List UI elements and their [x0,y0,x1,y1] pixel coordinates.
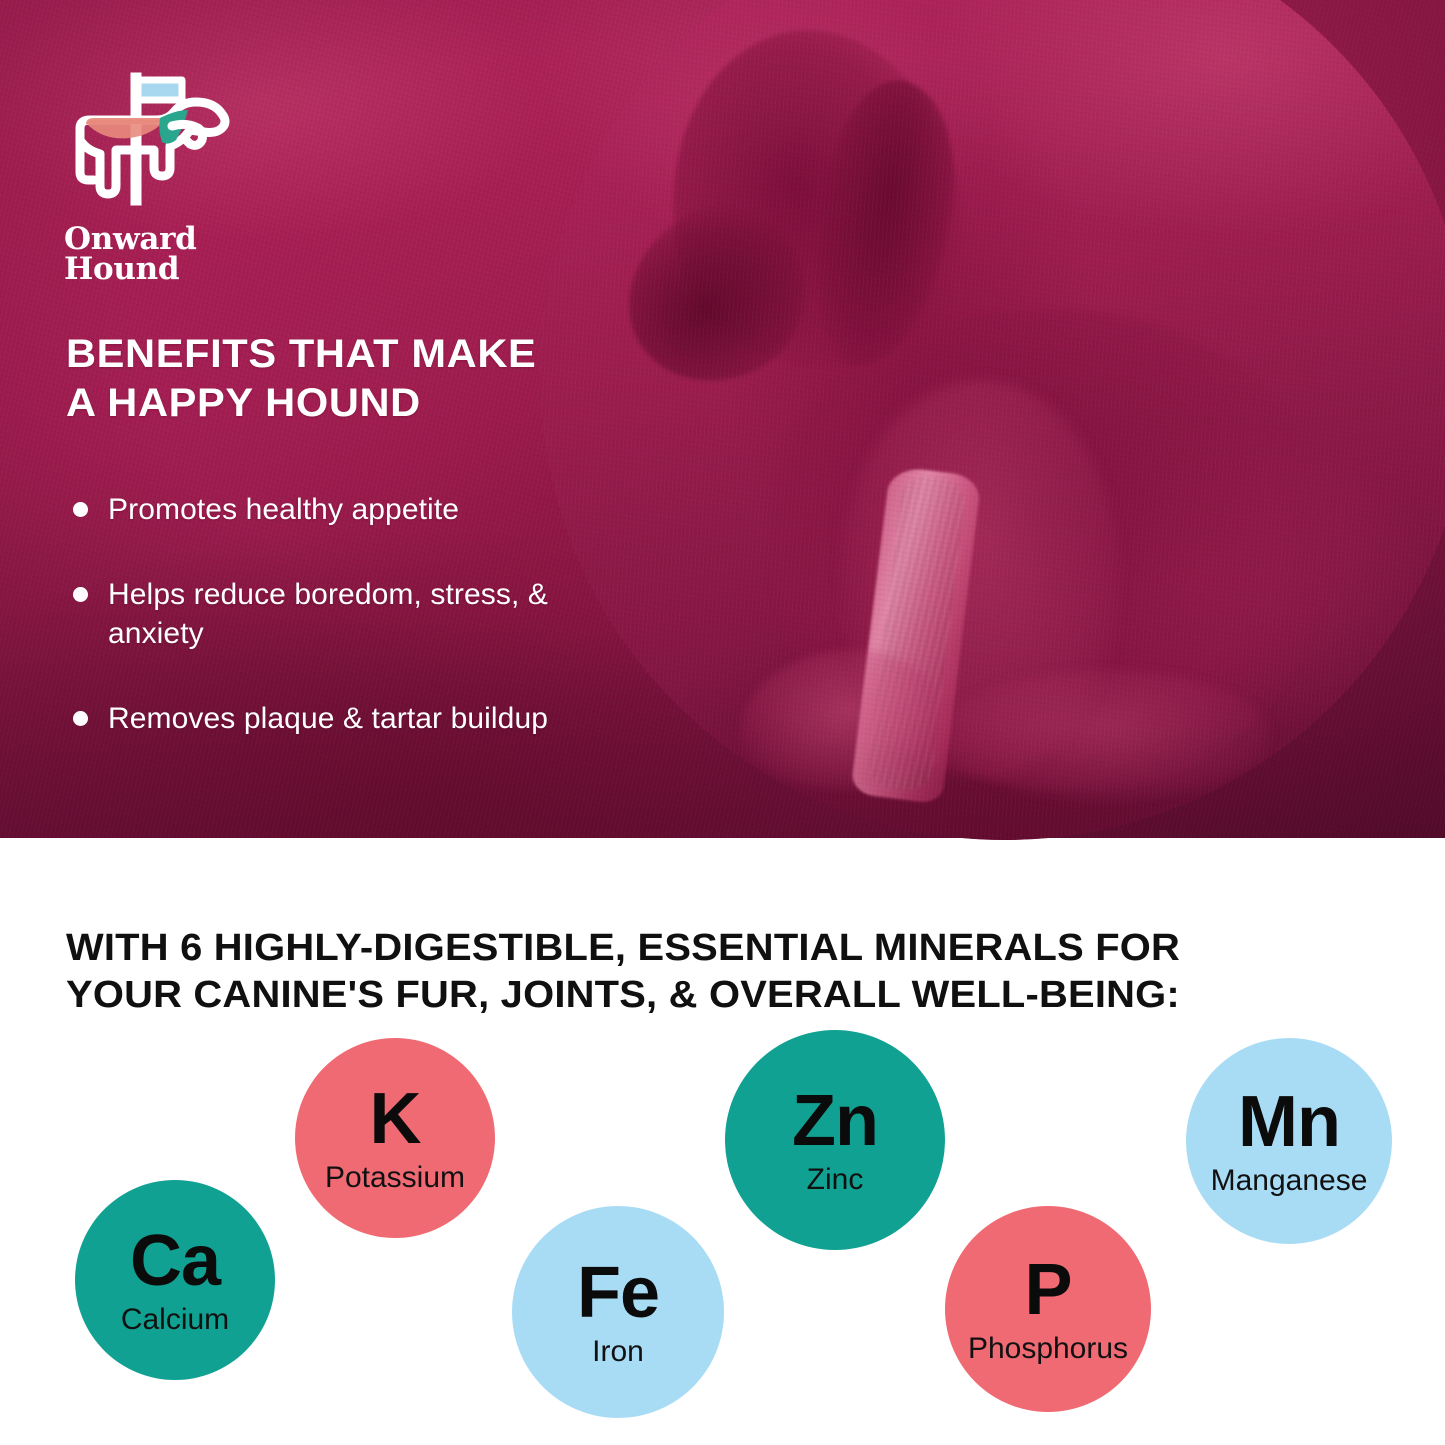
benefits-list: Promotes healthy appetite Helps reduce b… [66,490,586,738]
mineral-circle-manganese: Mn Manganese [1186,1038,1392,1244]
mineral-circle-zinc: Zn Zinc [725,1030,945,1250]
hero-title: BENEFITS THAT MAKE A HAPPY HOUND [66,330,607,428]
mineral-circle-phosphorus: P Phosphorus [945,1206,1151,1412]
mineral-name: Calcium [121,1303,229,1336]
brand-wordmark-line1: Onward [64,224,264,254]
mineral-symbol: Fe [577,1257,659,1329]
hero-copy: BENEFITS THAT MAKE A HAPPY HOUND Promote… [66,330,586,738]
brand-wordmark: Onward Hound [64,224,264,285]
mineral-symbol: P [1024,1254,1071,1326]
mineral-circle-potassium: K Potassium [295,1038,495,1238]
mineral-symbol: Mn [1238,1086,1340,1158]
mineral-name: Zinc [807,1163,864,1196]
bullet-dot-icon [73,711,88,726]
hero-circle-grain [540,0,1445,838]
benefit-text: Promotes healthy appetite [108,490,459,529]
mineral-circle-iron: Fe Iron [512,1206,724,1418]
minerals-heading-line1: WITH 6 HIGHLY-DIGESTIBLE, ESSENTIAL MINE… [66,927,1180,969]
mineral-symbol: Zn [792,1085,878,1157]
minerals-heading: WITH 6 HIGHLY-DIGESTIBLE, ESSENTIAL MINE… [66,925,1368,1019]
mineral-name: Iron [592,1335,644,1368]
benefit-item: Promotes healthy appetite [66,490,586,529]
benefit-item: Removes plaque & tartar buildup [66,699,586,738]
benefit-text: Removes plaque & tartar buildup [108,699,548,738]
hero-title-line2: A HAPPY HOUND [66,381,421,425]
mineral-symbol: K [370,1083,421,1155]
minerals-circles: Ca Calcium K Potassium Fe Iron Zn Zinc P… [0,1010,1445,1445]
onward-hound-dog-logo-icon [64,70,242,220]
benefit-item: Helps reduce boredom, stress, & anxiety [66,575,586,653]
product-benefits-infographic: // keep only the strip of the circle tha… [0,0,1445,1445]
mineral-name: Potassium [325,1161,465,1194]
mineral-symbol: Ca [130,1225,220,1297]
bullet-dot-icon [73,587,88,602]
mineral-circle-calcium: Ca Calcium [75,1180,275,1380]
hero-circle-photo [540,0,1445,838]
benefit-text: Helps reduce boredom, stress, & anxiety [108,575,586,653]
bullet-dot-icon [73,502,88,517]
brand-logo: Onward Hound [64,70,264,285]
brand-wordmark-line2: Hound [64,254,264,284]
hero-title-line1: BENEFITS THAT MAKE [66,332,536,376]
mineral-name: Phosphorus [968,1332,1128,1365]
mineral-name: Manganese [1211,1164,1368,1197]
